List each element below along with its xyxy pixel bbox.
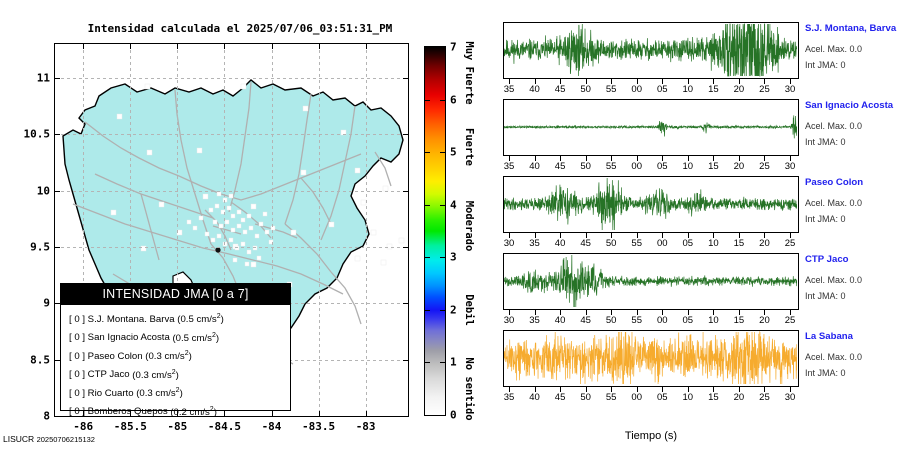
time-tick-label: 30 — [785, 392, 796, 403]
time-tick-label: 45 — [555, 392, 566, 403]
legend-title: INTENSIDAD JMA [0 a 7] — [61, 284, 290, 305]
time-tick-label: 35 — [504, 161, 515, 172]
time-tick-label: 05 — [657, 392, 668, 403]
station-max-acceleration: Acel. Max. 0.0 — [805, 44, 862, 54]
legend-row-accel: (0.3 cm/s2) — [136, 388, 183, 399]
time-tick-label: 40 — [529, 161, 540, 172]
legend-row-accel: (0.5 cm/s2) — [177, 314, 224, 325]
time-tick-label: 05 — [683, 238, 694, 249]
colorbar-tick — [425, 310, 430, 311]
colorbar-tick — [425, 100, 430, 101]
time-tick-label: 10 — [683, 161, 694, 172]
colorbar-tick — [425, 257, 430, 258]
colorbar-category-label: No sentido — [463, 357, 475, 420]
time-tick-label: 20 — [759, 315, 770, 326]
station-jma-intensity: Int JMA: 0 — [805, 137, 846, 147]
waveform-panel[interactable] — [503, 22, 799, 79]
footer-agency: LISUCR — [3, 434, 34, 444]
legend-row-accel: (0.3 cm/s2) — [145, 351, 192, 362]
time-tick-label: 15 — [708, 161, 719, 172]
time-tick-label: 55 — [631, 238, 642, 249]
map-gridline-horizontal — [55, 191, 408, 192]
station-name[interactable]: San Ignacio Acosta — [805, 100, 893, 111]
intensity-legend: INTENSIDAD JMA [0 a 7] [ 0 ] S.J. Montan… — [60, 283, 291, 411]
legend-row-accel: (0.5 cm/s2) — [172, 333, 219, 344]
epicenter-marker — [215, 247, 220, 252]
map-y-label: 9 — [43, 297, 50, 310]
colorbar-tick-label: 7 — [450, 41, 457, 54]
page-title: Intensidad calculada el 2025/07/06_03:51… — [50, 22, 430, 35]
legend-row-station: Bomberos Quepos — [88, 407, 168, 418]
time-tick-label: 35 — [504, 84, 515, 95]
colorbar-tick-label: 3 — [450, 251, 457, 264]
map-x-label: -84.5 — [208, 420, 241, 433]
map-y-tick — [55, 191, 60, 192]
colorbar-tick — [440, 152, 445, 153]
waveform-panel[interactable] — [503, 253, 799, 310]
time-tick-label: 05 — [657, 84, 668, 95]
map-y-tick — [55, 78, 60, 79]
footer-timestamp: 20250706215132 — [37, 435, 95, 444]
map-y-label: 8 — [43, 410, 50, 423]
time-tick-label: 50 — [580, 84, 591, 95]
map-x-label: -86 — [73, 420, 93, 433]
time-tick-label: 10 — [683, 392, 694, 403]
station-jma-intensity: Int JMA: 0 — [805, 60, 846, 70]
legend-row: [ 0 ] S.J. Montana. Barva (0.5 cm/s2) — [69, 309, 290, 327]
time-tick-label: 25 — [785, 315, 796, 326]
map-x-label: -85 — [167, 420, 187, 433]
legend-row-jma: [ 0 ] — [69, 351, 85, 362]
waveform-time-axis: 303540455055000510152025 — [503, 310, 799, 330]
time-tick-label: 10 — [708, 238, 719, 249]
time-tick-label: 20 — [759, 238, 770, 249]
waveform-time-axis: 354045505500051015202530 — [503, 387, 799, 407]
map-y-label: 10.5 — [24, 128, 51, 141]
station-jma-intensity: Int JMA: 0 — [805, 291, 846, 301]
map-x-tick — [366, 44, 367, 49]
station-max-acceleration: Acel. Max. 0.0 — [805, 352, 862, 362]
time-tick-label: 00 — [631, 84, 642, 95]
colorbar-tick — [440, 205, 445, 206]
time-tick-label: 55 — [606, 392, 617, 403]
station-max-acceleration: Acel. Max. 0.0 — [805, 275, 862, 285]
time-tick-label: 45 — [580, 238, 591, 249]
time-tick-label: 55 — [631, 315, 642, 326]
waveform-trace — [504, 100, 797, 154]
station-max-acceleration: Acel. Max. 0.0 — [805, 121, 862, 131]
intensity-colorbar — [424, 46, 446, 416]
colorbar-tick-label: 4 — [450, 198, 457, 211]
time-tick-label: 40 — [529, 84, 540, 95]
colorbar-tick — [425, 152, 430, 153]
time-tick-label: 05 — [657, 161, 668, 172]
map-y-tick — [403, 303, 408, 304]
time-tick-label: 00 — [657, 315, 668, 326]
time-tick-label: 25 — [759, 392, 770, 403]
map-y-label: 11 — [37, 71, 50, 84]
waveform-time-axis: 354045505500051015202530 — [503, 79, 799, 99]
station-jma-intensity: Int JMA: 0 — [805, 368, 846, 378]
time-tick-label: 30 — [785, 84, 796, 95]
time-tick-label: 50 — [606, 315, 617, 326]
map-x-label: -85.5 — [114, 420, 147, 433]
time-tick-label: 40 — [555, 238, 566, 249]
map-gridline-horizontal — [55, 78, 408, 79]
time-tick-label: 40 — [555, 315, 566, 326]
waveform-time-axis: 354045505500051015202530 — [503, 156, 799, 176]
map-gridline-horizontal — [55, 134, 408, 135]
map-x-tick — [83, 44, 84, 49]
colorbar-tick — [440, 257, 445, 258]
colorbar-category-label: Fuerte — [463, 128, 475, 166]
waveform-trace — [504, 177, 797, 231]
time-tick-label: 15 — [708, 84, 719, 95]
colorbar-category-label: Moderado — [463, 200, 475, 251]
colorbar-tick-label: 0 — [450, 409, 457, 422]
legend-row-accel: (0.2 cm/s2) — [170, 407, 217, 418]
time-tick-label: 55 — [606, 161, 617, 172]
time-tick-label: 55 — [606, 84, 617, 95]
colorbar-tick — [425, 362, 430, 363]
colorbar-tick — [440, 362, 445, 363]
legend-row-station: CTP Jaco — [88, 370, 130, 381]
station-name[interactable]: CTP Jaco — [805, 254, 849, 265]
map-x-label: -83 — [356, 420, 376, 433]
legend-row: [ 0 ] San Ignacio Acosta (0.5 cm/s2) — [69, 327, 290, 345]
time-tick-label: 15 — [734, 238, 745, 249]
map-x-tick — [130, 44, 131, 49]
map-y-tick — [403, 360, 408, 361]
waveform-trace — [504, 23, 797, 77]
legend-row: [ 0 ] CTP Jaco (0.3 cm/s2) — [69, 364, 290, 382]
colorbar-tick-label: 5 — [450, 146, 457, 159]
legend-row-station: San Ignacio Acosta — [88, 333, 170, 344]
time-tick-label: 20 — [734, 392, 745, 403]
time-tick-label: 35 — [504, 392, 515, 403]
colorbar-tick — [440, 310, 445, 311]
time-tick-label: 00 — [631, 161, 642, 172]
map-y-tick — [403, 247, 408, 248]
time-tick-label: 50 — [580, 392, 591, 403]
time-tick-label: 15 — [734, 315, 745, 326]
legend-row-station: Rio Cuarto — [88, 388, 134, 399]
time-tick-label: 05 — [683, 315, 694, 326]
colorbar-category-label: Muy Fuerte — [463, 42, 475, 105]
map-x-tick — [272, 44, 273, 49]
map-x-tick — [177, 44, 178, 49]
time-tick-label: 25 — [759, 161, 770, 172]
station-name[interactable]: S.J. Montana, Barva — [805, 23, 896, 34]
time-tick-label: 50 — [606, 238, 617, 249]
colorbar-tick — [425, 205, 430, 206]
station-name[interactable]: Paseo Colon — [805, 177, 863, 188]
colorbar-category-label: Debil — [463, 294, 475, 326]
map-x-tick — [224, 44, 225, 49]
map-x-label: -84 — [262, 420, 282, 433]
colorbar-tick — [440, 100, 445, 101]
map-y-tick — [403, 416, 408, 417]
map-y-tick — [55, 134, 60, 135]
legend-rows: [ 0 ] S.J. Montana. Barva (0.5 cm/s2)[ 0… — [61, 305, 290, 420]
time-tick-label: 20 — [734, 84, 745, 95]
time-tick-label: 00 — [631, 392, 642, 403]
waveform-time-axis: 303540455055000510152025 — [503, 233, 799, 253]
time-tick-label: 35 — [529, 315, 540, 326]
waveform-trace — [504, 254, 797, 308]
legend-row: [ 0 ] Rio Cuarto (0.3 cm/s2) — [69, 383, 290, 401]
map-x-label: -83.5 — [302, 420, 335, 433]
legend-row-jma: [ 0 ] — [69, 407, 85, 418]
waveform-panel[interactable] — [503, 176, 799, 233]
time-tick-label: 30 — [504, 238, 515, 249]
legend-row-jma: [ 0 ] — [69, 333, 85, 344]
time-tick-label: 10 — [708, 315, 719, 326]
map-gridline-horizontal — [55, 247, 408, 248]
time-axis-label: Tiempo (s) — [503, 430, 799, 442]
legend-row-station: S.J. Montana. Barva — [88, 314, 175, 325]
colorbar-tick-label: 2 — [450, 303, 457, 316]
legend-row-jma: [ 0 ] — [69, 370, 85, 381]
map-y-tick — [403, 78, 408, 79]
time-tick-label: 45 — [555, 84, 566, 95]
footer: LISUCR 20250706215132 — [3, 434, 95, 444]
time-tick-label: 30 — [785, 161, 796, 172]
colorbar-tick-label: 1 — [450, 356, 457, 369]
time-tick-label: 45 — [555, 161, 566, 172]
colorbar-tick-label: 6 — [450, 93, 457, 106]
time-tick-label: 40 — [529, 392, 540, 403]
waveform-panel[interactable] — [503, 99, 799, 156]
legend-row: [ 0 ] Paseo Colon (0.3 cm/s2) — [69, 346, 290, 364]
map-y-label: 9.5 — [30, 240, 50, 253]
legend-row-jma: [ 0 ] — [69, 314, 85, 325]
station-jma-intensity: Int JMA: 0 — [805, 214, 846, 224]
map-y-label: 10 — [37, 184, 50, 197]
time-tick-label: 30 — [504, 315, 515, 326]
station-name[interactable]: La Sabana — [805, 331, 853, 342]
time-tick-label: 10 — [683, 84, 694, 95]
map-y-tick — [403, 134, 408, 135]
time-tick-label: 00 — [657, 238, 668, 249]
map-y-tick — [55, 247, 60, 248]
legend-row: [ 0 ] Bomberos Quepos (0.2 cm/s2) — [69, 401, 290, 419]
map-y-tick — [403, 191, 408, 192]
map-y-label: 8.5 — [30, 353, 50, 366]
time-tick-label: 45 — [580, 315, 591, 326]
map-x-tick — [319, 44, 320, 49]
legend-row-station: Paseo Colon — [88, 351, 143, 362]
waveform-trace — [504, 331, 797, 385]
time-tick-label: 15 — [708, 392, 719, 403]
legend-row-accel: (0.3 cm/s2) — [132, 370, 179, 381]
map-y-tick — [55, 416, 60, 417]
time-tick-label: 25 — [785, 238, 796, 249]
time-tick-label: 20 — [734, 161, 745, 172]
time-tick-label: 35 — [529, 238, 540, 249]
station-max-acceleration: Acel. Max. 0.0 — [805, 198, 862, 208]
waveform-panel[interactable] — [503, 330, 799, 387]
legend-row-jma: [ 0 ] — [69, 388, 85, 399]
time-tick-label: 50 — [580, 161, 591, 172]
time-tick-label: 25 — [759, 84, 770, 95]
